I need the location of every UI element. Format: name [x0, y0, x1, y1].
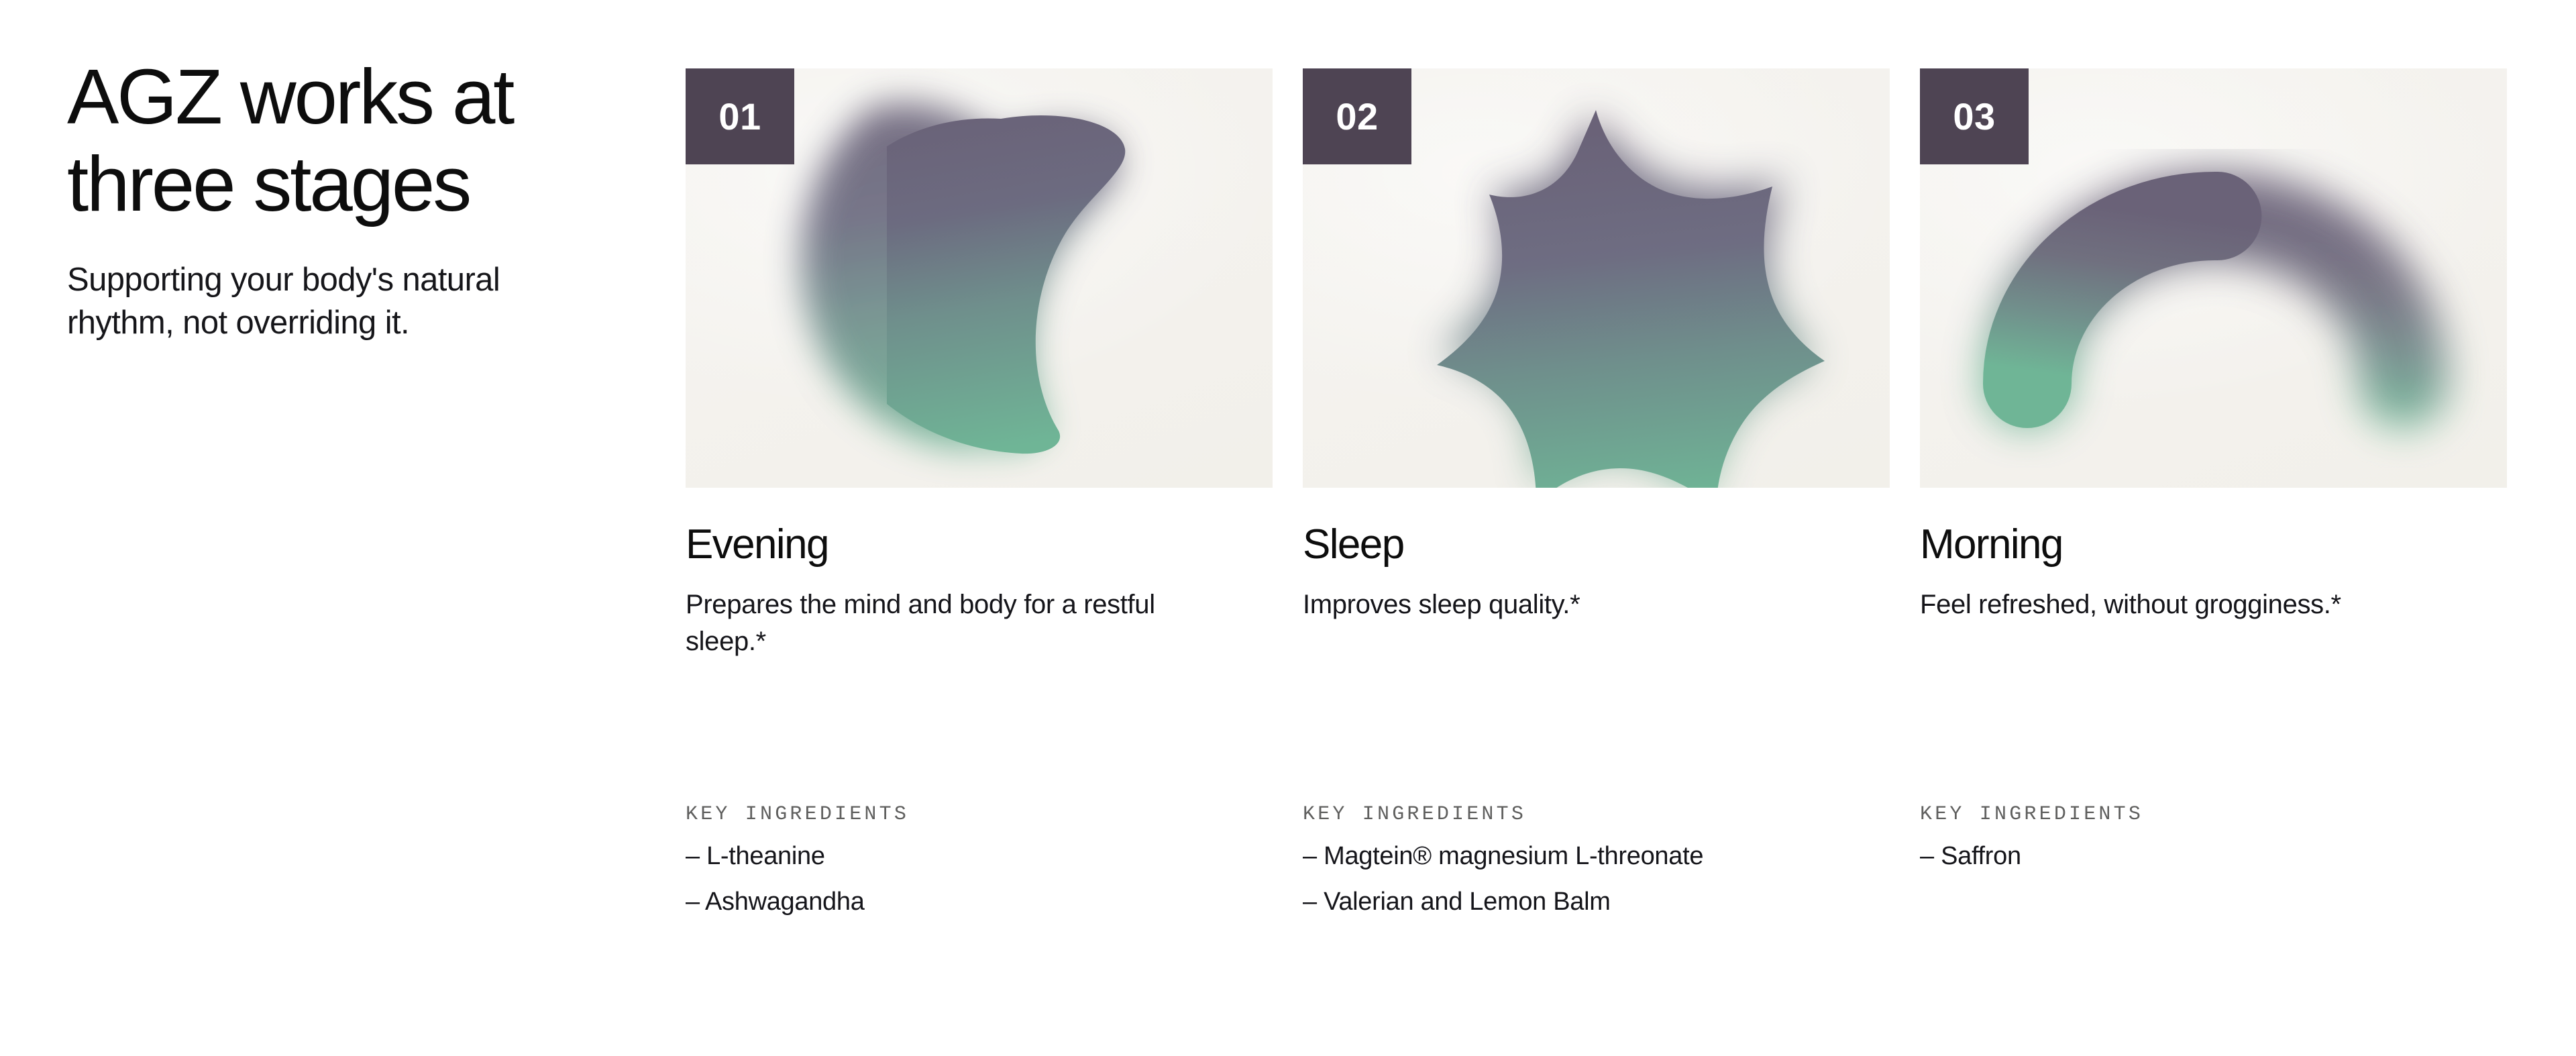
card-heading: Evening: [686, 523, 1273, 566]
intro-subtitle: Supporting your body's natural rhythm, n…: [67, 259, 644, 344]
page-title: AGZ works at three stages: [67, 54, 644, 228]
card-description: Prepares the mind and body for a restful…: [686, 586, 1236, 660]
ingredients-block: KEY INGREDIENTS – Magtein® magnesium L-t…: [1303, 803, 1890, 914]
three-stages-section: AGZ works at three stages Supporting you…: [0, 0, 2576, 1056]
card-description: Improves sleep quality.*: [1303, 586, 1853, 623]
card-media-morning: 03: [1920, 68, 2507, 488]
card-body-sleep: Sleep Improves sleep quality.*: [1303, 488, 1890, 623]
stage-card-sleep[interactable]: 02: [1303, 68, 1890, 660]
stage-number-badge: 02: [1303, 68, 1411, 164]
card-body-evening: Evening Prepares the mind and body for a…: [686, 488, 1273, 660]
stage-card-morning[interactable]: 03: [1920, 68, 2507, 660]
stage-number-badge: 03: [1920, 68, 2029, 164]
ingredients-block: KEY INGREDIENTS – L-theanine – Ashwagand…: [686, 803, 1273, 914]
card-media-sleep: 02: [1303, 68, 1890, 488]
card-heading: Morning: [1920, 523, 2507, 566]
card-media-evening: 01: [686, 68, 1273, 488]
stage-card-grid: 01: [686, 68, 2508, 660]
card-heading: Sleep: [1303, 523, 1890, 566]
stage-number-badge: 01: [686, 68, 794, 164]
ingredients-label: KEY INGREDIENTS: [1920, 803, 2507, 826]
ingredients-label: KEY INGREDIENTS: [686, 803, 1273, 826]
list-item: – Saffron: [1920, 843, 2507, 869]
list-item: – Ashwagandha: [686, 889, 1273, 914]
intro-block: AGZ works at three stages Supporting you…: [67, 54, 644, 344]
ingredients-label: KEY INGREDIENTS: [1303, 803, 1890, 826]
list-item: – Valerian and Lemon Balm: [1303, 889, 1890, 914]
list-item: – Magtein® magnesium L-threonate: [1303, 843, 1890, 869]
card-description: Feel refreshed, without grogginess.*: [1920, 586, 2470, 623]
ingredients-block: KEY INGREDIENTS – Saffron: [1920, 803, 2507, 869]
list-item: – L-theanine: [686, 843, 1273, 869]
stage-card-evening[interactable]: 01: [686, 68, 1273, 660]
card-body-morning: Morning Feel refreshed, without groggine…: [1920, 488, 2507, 623]
